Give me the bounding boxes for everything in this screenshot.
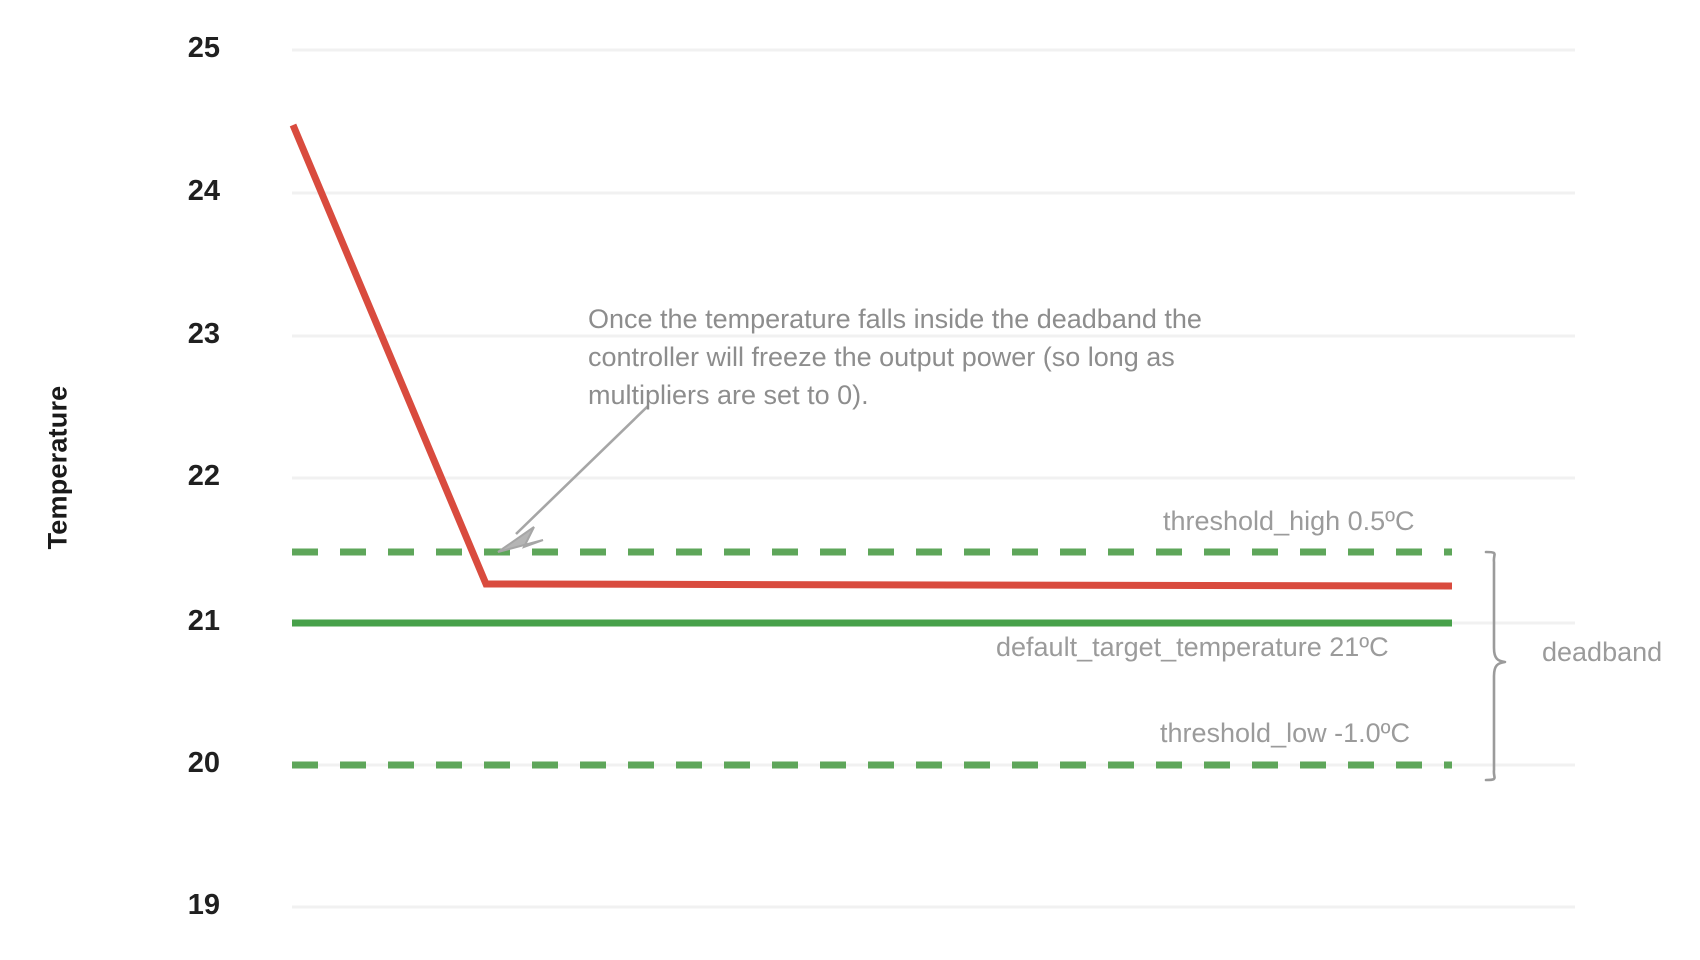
chart-canvas: Temperature 25 24 23 22 21 20 19 Once th…	[0, 0, 1700, 960]
deadband-brace	[1486, 552, 1505, 780]
y-tick-21: 21	[130, 605, 220, 638]
deadband-brace-label: deadband	[1542, 637, 1662, 668]
y-tick-20: 20	[130, 747, 220, 780]
y-tick-22: 22	[130, 460, 220, 493]
y-tick-19: 19	[130, 889, 220, 922]
gridlines	[292, 50, 1575, 907]
deadband-note-text: Once the temperature falls inside the de…	[588, 300, 1318, 414]
y-tick-24: 24	[130, 175, 220, 208]
y-tick-23: 23	[130, 318, 220, 351]
y-tick-25: 25	[130, 32, 220, 65]
threshold-low-label: threshold_low -1.0ºC	[1160, 718, 1410, 749]
threshold-high-label: threshold_high 0.5ºC	[1163, 506, 1415, 537]
note-arrow-shaft	[516, 406, 648, 534]
temperature-deadband-chart	[0, 0, 1700, 960]
y-axis-title: Temperature	[43, 358, 74, 578]
default-target-label: default_target_temperature 21ºC	[996, 632, 1389, 663]
